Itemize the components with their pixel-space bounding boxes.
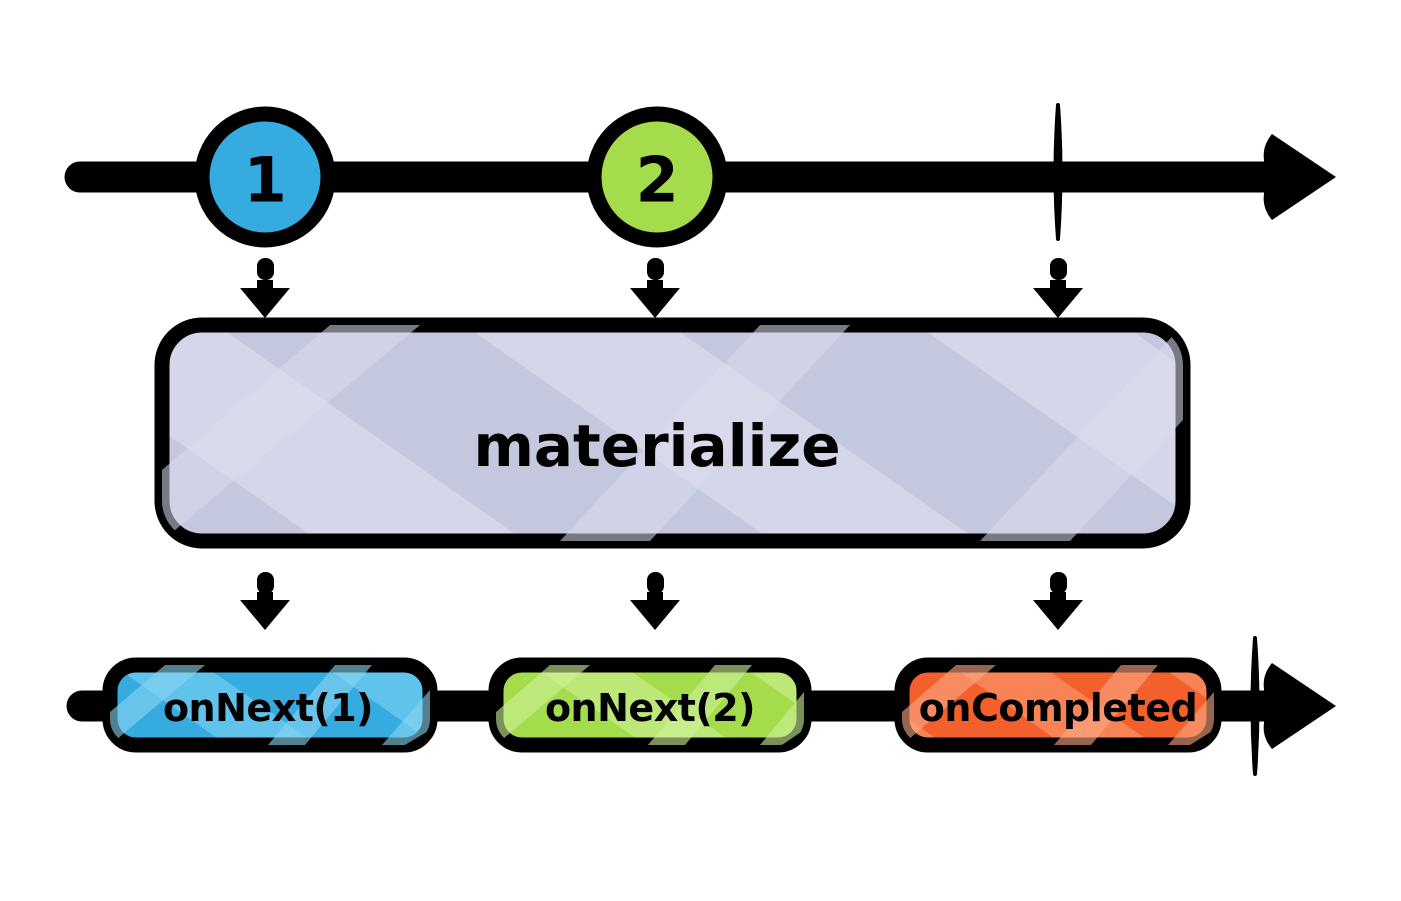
source-timeline: 1 2 (80, 105, 1336, 240)
source-complete-marker (1056, 105, 1061, 239)
result-timeline-arrowhead (1264, 663, 1336, 749)
upper-connector-arrow-3 (1033, 258, 1083, 318)
lower-connector-arrow-3 (1033, 572, 1083, 630)
operator-box-label: materialize (473, 412, 840, 480)
result-notification-onnext-2[interactable]: onNext(2) (496, 665, 804, 745)
operator-box[interactable]: materialize (162, 325, 1183, 541)
result-notification-onnext-1-label: onNext(1) (163, 686, 373, 730)
source-marble-2-label: 2 (636, 144, 679, 217)
upper-connector-arrow-2 (630, 258, 680, 318)
source-marble-2[interactable]: 2 (594, 114, 720, 240)
result-notification-oncompleted-label: onCompleted (919, 686, 1197, 730)
result-timeline: onNext(1) onNext(2) (82, 638, 1336, 774)
marble-diagram-canvas: 1 2 (0, 0, 1401, 901)
result-notification-oncompleted[interactable]: onCompleted (902, 665, 1214, 745)
marble-diagram-svg: 1 2 (0, 0, 1401, 901)
source-marble-1-label: 1 (244, 144, 287, 217)
source-marble-1[interactable]: 1 (202, 114, 328, 240)
result-notification-onnext-1[interactable]: onNext(1) (110, 665, 430, 745)
lower-connector-arrow-1 (240, 572, 290, 630)
lower-connector-arrows (240, 572, 1083, 630)
source-timeline-arrowhead (1264, 134, 1336, 220)
lower-connector-arrow-2 (630, 572, 680, 630)
result-complete-marker (1253, 638, 1258, 774)
upper-connector-arrow-1 (240, 258, 290, 318)
upper-connector-arrows (240, 258, 1083, 318)
result-notification-onnext-2-label: onNext(2) (545, 686, 755, 730)
